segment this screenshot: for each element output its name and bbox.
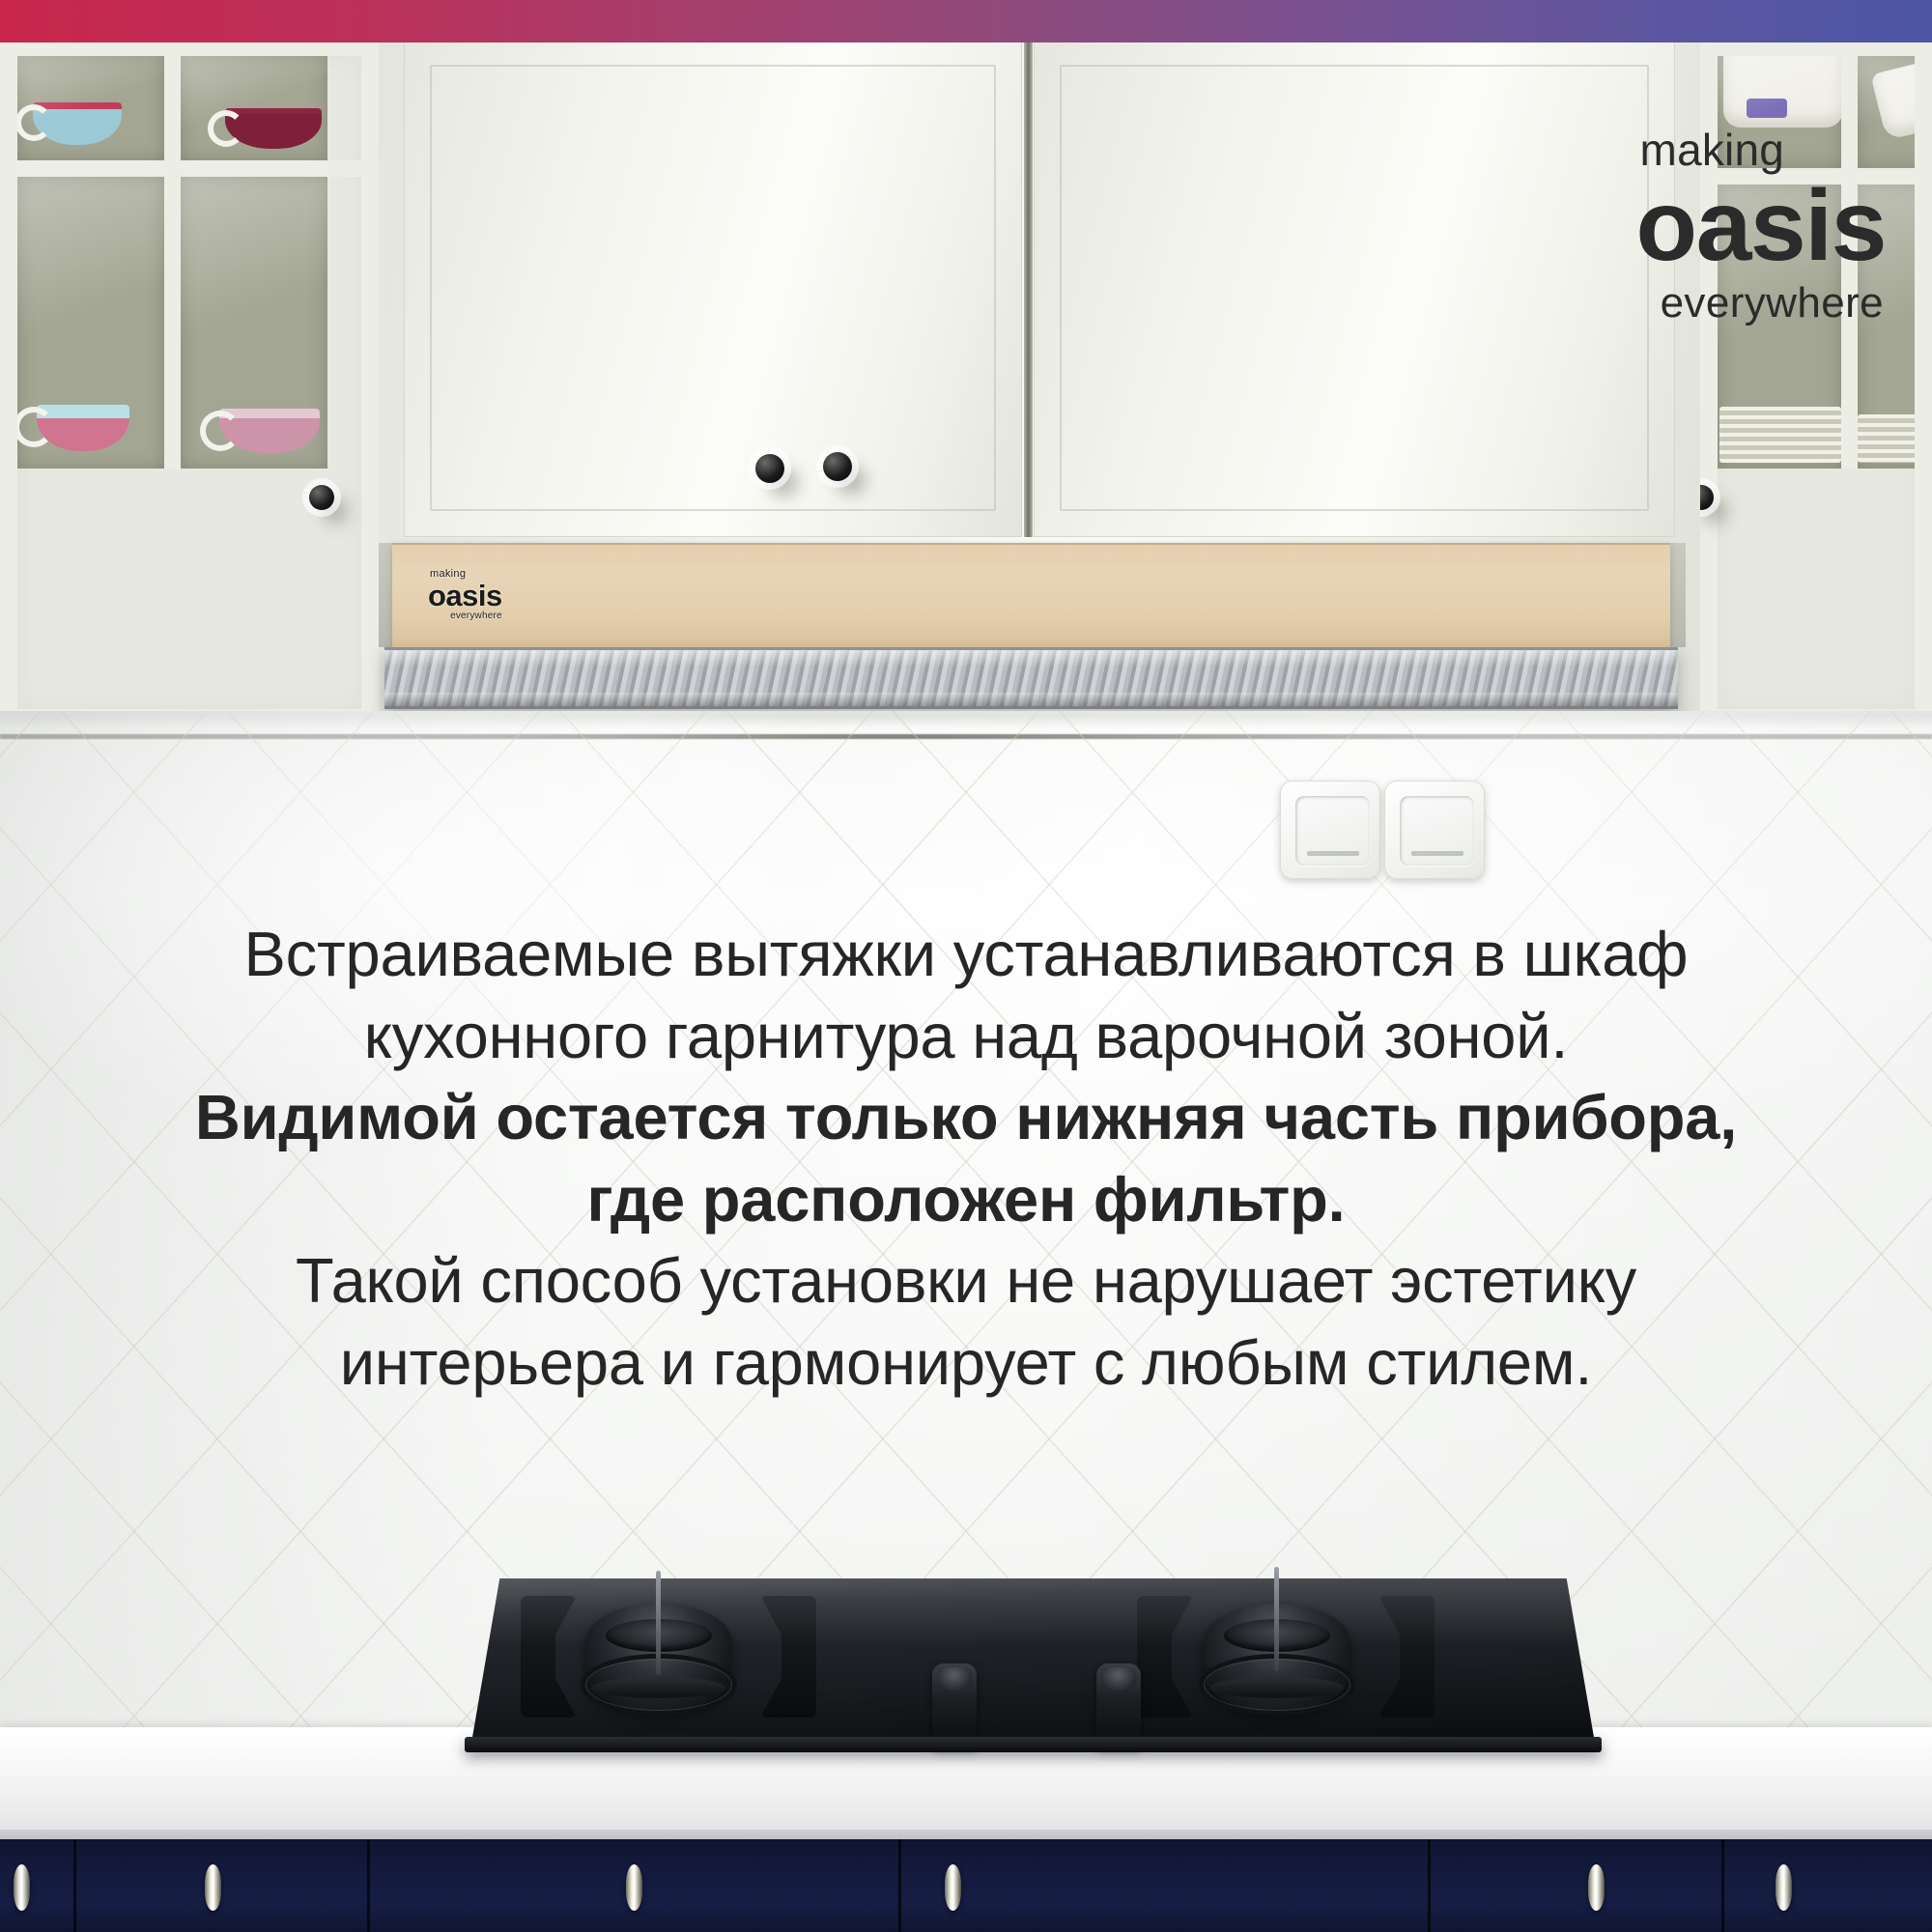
cabinet-knob (309, 485, 334, 510)
drawer-handle[interactable] (945, 1864, 961, 1911)
cabinet-knob-left[interactable] (755, 454, 784, 483)
brand-logo-line-making: making (1640, 128, 1886, 172)
hood-side-right (1670, 543, 1686, 647)
burner-igniter-left (656, 1571, 661, 1675)
cabinet-seam (1721, 1839, 1724, 1932)
copy-line-4-bold: где расположен фильтр. (58, 1159, 1874, 1241)
cabinet-seam (898, 1839, 901, 1932)
copy-line-3-bold: Видимой остается только нижняя часть при… (58, 1077, 1874, 1159)
copy-line-1: Встраиваемые вытяжки устанавливаются в ш… (58, 914, 1874, 996)
wall-socket-left[interactable] (1280, 781, 1380, 879)
copy-line-6: интерьера и гармонирует с любым стилем. (58, 1322, 1874, 1405)
cooktop-knob-left[interactable] (932, 1663, 977, 1747)
hood-brand-logo: making oasis everywhere (428, 569, 502, 621)
hood-logo-line-everywhere: everywhere (428, 611, 502, 621)
cabinet-knob-right[interactable] (823, 452, 852, 481)
drawer-handle[interactable] (14, 1864, 30, 1911)
drawer-handle[interactable] (626, 1864, 642, 1911)
copy-line-5: Такой способ установки не нарушает эстет… (58, 1240, 1874, 1322)
drawer-handle[interactable] (1776, 1864, 1792, 1911)
cabinet-frame (0, 39, 379, 726)
left-glass-cabinet (0, 39, 379, 726)
cabinet-seam (1428, 1839, 1431, 1932)
brand-logo-line-oasis: oasis (1636, 176, 1886, 276)
cabinet-seam (73, 1839, 76, 1932)
lower-cabinet-row (0, 1839, 1932, 1932)
drawer-handle[interactable] (1588, 1864, 1605, 1911)
cooktop-knob-right[interactable] (1096, 1663, 1141, 1747)
brand-logo: making oasis everywhere (1636, 128, 1886, 325)
hood-side-left (379, 543, 393, 647)
promo-image-canvas: making oasis everywhere (0, 0, 1932, 1932)
copy-line-2: кухонного гарнитура над варочной зоной. (58, 996, 1874, 1078)
range-hood-fascia: making oasis everywhere (392, 543, 1670, 649)
gas-cooktop (470, 1538, 1596, 1760)
cabinet-seam (367, 1839, 370, 1932)
burner-igniter-right (1274, 1567, 1279, 1671)
cabinet-door-gap (1024, 39, 1033, 537)
upper-cabinet-row: making oasis everywhere (0, 0, 1932, 726)
range-hood-filter-underside (384, 647, 1678, 709)
cabinet-door-right[interactable] (1034, 39, 1675, 537)
gradient-accent-bar (0, 0, 1932, 43)
hood-logo-line-oasis: oasis (428, 581, 502, 611)
cabinet-door-left[interactable] (404, 39, 1022, 537)
brand-logo-line-everywhere: everywhere (1636, 282, 1884, 325)
headline-copy-block: Встраиваемые вытяжки устанавливаются в ш… (58, 914, 1874, 1404)
cooktop-front-edge (465, 1737, 1602, 1752)
wall-socket-right[interactable] (1384, 781, 1485, 879)
drawer-handle[interactable] (205, 1864, 221, 1911)
